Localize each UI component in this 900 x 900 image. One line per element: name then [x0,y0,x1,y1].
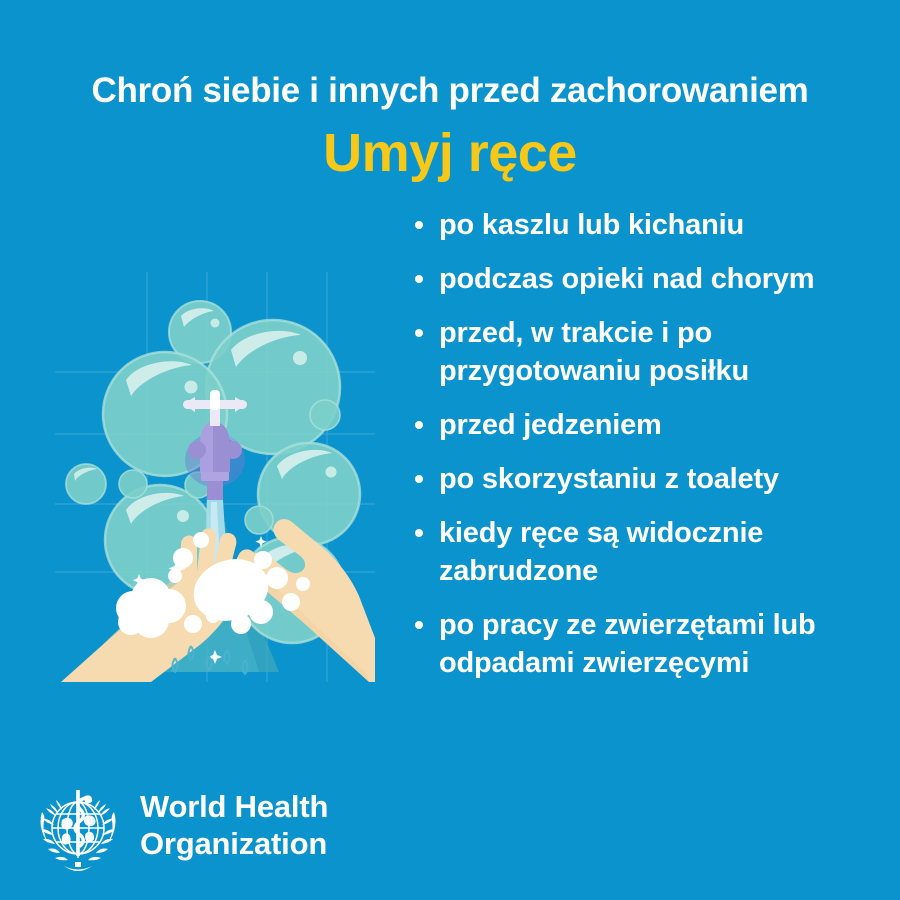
list-item-label: przed jedzeniem [439,409,662,441]
handwashing-illustration [55,272,375,682]
poster: Chroń siebie i innych przed zachorowanie… [0,0,900,900]
list-item: podczas opieki nad chorym [405,260,875,298]
who-wordmark: World Health Organization [140,788,328,862]
bullet-dot-icon [415,221,423,229]
who-wordmark-line1: World Health [140,788,328,825]
list-item: kiedy ręce są widocznie zabrudzone [405,514,875,590]
bullet-dot-icon [415,421,423,429]
list-item-label: po kaszlu lub kichaniu [439,209,744,241]
list-item: po skorzystaniu z toalety [405,460,875,498]
bullet-dot-icon [415,621,423,629]
bullet-dot-icon [415,529,423,537]
who-emblem-icon [28,782,128,882]
page-title: Chroń siebie i innych przed zachorowanie… [0,70,900,112]
list-item-label: podczas opieki nad chorym [439,263,814,295]
who-wordmark-line2: Organization [140,825,328,862]
list-item: przed jedzeniem [405,406,875,444]
bullet-dot-icon [415,275,423,283]
bullet-dot-icon [415,475,423,483]
list-item: po kaszlu lub kichaniu [405,206,875,244]
bubble [245,506,273,534]
list-item: przed, w trakcie i po przygotowaniu posi… [405,314,875,390]
list-item: po pracy ze zwierzętami lub odpadami zwi… [405,606,875,682]
list-item-label: przed, w trakcie i po przygotowaniu posi… [439,317,749,387]
bubble [258,443,360,545]
bubble [66,464,106,504]
who-logo: World Health Organization [28,780,348,885]
page-subtitle: Umyj ręce [0,122,900,184]
handwashing-moments-list: po kaszlu lub kichaniu podczas opieki na… [405,206,875,698]
list-item-label: kiedy ręce są widocznie zabrudzone [439,517,763,587]
bubble [310,400,340,430]
bullet-dot-icon [415,329,423,337]
list-item-label: po pracy ze zwierzętami lub odpadami zwi… [439,609,816,679]
list-item-label: po skorzystaniu z toalety [439,463,779,495]
bubble [119,470,147,498]
